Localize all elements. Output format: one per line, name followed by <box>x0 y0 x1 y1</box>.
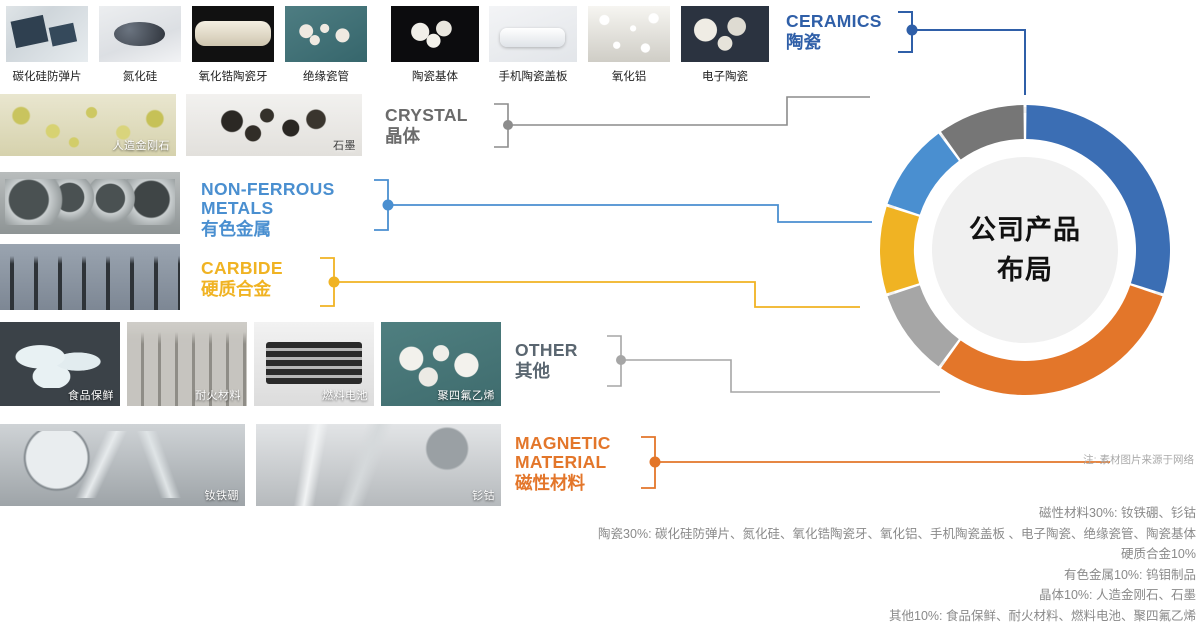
photo-electronic-ceramics <box>681 6 769 62</box>
group-label-en: OTHER <box>515 341 578 360</box>
connector-crystal <box>494 97 870 147</box>
connector-dot-crystal <box>503 120 513 130</box>
group-label-zh: 晶体 <box>385 125 468 147</box>
tile-caption: 钕铁硼 <box>205 487 240 503</box>
tile-ndfeb: 钕铁硼 <box>0 424 245 506</box>
group-label-zh: 其他 <box>515 360 578 382</box>
connector-magnetic <box>641 437 1110 488</box>
donut-segment-crystal[interactable] <box>941 105 1024 160</box>
tile-nonferrous-parts <box>0 172 180 234</box>
group-label-en-line2: MATERIAL <box>515 453 611 472</box>
tile-caption: 绝缘瓷管 <box>285 68 367 84</box>
tile-graphite: 石墨 <box>186 94 362 156</box>
donut-center-label: 公司产品 布局 <box>932 157 1118 343</box>
photo-nonferrous-parts <box>0 172 180 234</box>
group-label-other[interactable]: OTHER 其他 <box>515 341 578 382</box>
tile-caption: 燃料电池 <box>322 387 368 403</box>
photo-silicon-nitride <box>99 6 181 62</box>
connector-dot-nonferrous <box>383 200 394 211</box>
group-label-zh: 陶瓷 <box>786 31 882 53</box>
photo-ceramic-substrate <box>391 6 479 62</box>
legend-item: 磁性材料30%: 钕铁硼、钐钴 <box>16 503 1196 524</box>
donut-segment-carbide[interactable] <box>880 207 919 294</box>
tile-carbide-drills <box>0 244 180 310</box>
tile-caption: 陶瓷基体 <box>391 68 479 84</box>
tile-caption: 人造金刚石 <box>113 137 171 153</box>
photo-phone-ceramic-cover <box>489 6 577 62</box>
tile-caption: 石墨 <box>333 137 356 153</box>
tile-fuel-cell: 燃料电池 <box>254 322 374 406</box>
group-label-nonferrous[interactable]: NON-FERROUS METALS 有色金属 <box>201 180 335 240</box>
tile-ceramic-substrate <box>391 6 479 62</box>
tile-caption: 氧化锆陶瓷牙 <box>192 68 274 84</box>
tile-phone-ceramic-cover <box>489 6 577 62</box>
tile-caption: 聚四氟乙烯 <box>438 387 496 403</box>
connector-dot-other <box>616 355 626 365</box>
legend-item: 有色金属10%: 钨钼制品 <box>16 565 1196 586</box>
group-label-zh: 有色金属 <box>201 218 335 240</box>
group-label-en: CARBIDE <box>201 259 283 278</box>
legend-item: 硬质合金10% <box>16 544 1196 565</box>
group-label-carbide[interactable]: CARBIDE 硬质合金 <box>201 259 283 300</box>
tile-caption: 氧化铝 <box>588 68 670 84</box>
photo-insulating-tube <box>285 6 367 62</box>
group-label-en: CERAMICS <box>786 12 882 31</box>
tile-zirconia-teeth <box>192 6 274 62</box>
group-label-zh: 磁性材料 <box>515 472 611 494</box>
group-label-magnetic[interactable]: MAGNETIC MATERIAL 磁性材料 <box>515 434 611 494</box>
group-label-en-line1: NON-FERROUS <box>201 180 335 199</box>
tile-silicon-nitride <box>99 6 181 62</box>
center-title-line1: 公司产品 <box>969 210 1081 250</box>
connector-nonferrous <box>374 180 872 230</box>
connector-carbide <box>320 258 860 307</box>
tile-caption: 氮化硅 <box>99 68 181 84</box>
tile-insulating-tube <box>285 6 367 62</box>
group-label-en-line2: METALS <box>201 199 335 218</box>
tile-caption: 手机陶瓷盖板 <box>489 68 577 84</box>
group-label-crystal[interactable]: CRYSTAL 晶体 <box>385 106 468 147</box>
legend-list: 磁性材料30%: 钕铁硼、钐钴陶瓷30%: 碳化硅防弹片、氮化硅、氧化锆陶瓷牙、… <box>16 503 1196 626</box>
center-title-line2: 布局 <box>997 250 1053 290</box>
tile-electronic-ceramics <box>681 6 769 62</box>
tile-alumina <box>588 6 670 62</box>
tile-food-preservation: 食品保鲜 <box>0 322 120 406</box>
connector-dot-magnetic <box>650 457 661 468</box>
connector-dot-ceramics <box>907 25 918 36</box>
legend-item: 其他10%: 食品保鲜、耐火材料、燃料电池、聚四氟乙烯 <box>16 606 1196 627</box>
photo-alumina <box>588 6 670 62</box>
tile-caption: 耐火材料 <box>195 387 241 403</box>
tile-refractory: 耐火材料 <box>127 322 247 406</box>
tile-sic-armor <box>6 6 88 62</box>
photo-carbide-drills <box>0 244 180 310</box>
connector-dot-carbide <box>329 277 340 288</box>
group-label-en-line1: MAGNETIC <box>515 434 611 453</box>
photo-sic-armor <box>6 6 88 62</box>
tile-caption: 食品保鲜 <box>68 387 114 403</box>
tile-smco: 钐钴 <box>256 424 501 506</box>
tile-caption: 电子陶瓷 <box>681 68 769 84</box>
source-note: 注: 素材图片来源于网络 <box>1083 452 1194 467</box>
photo-zirconia-teeth <box>192 6 274 62</box>
group-label-zh: 硬质合金 <box>201 278 283 300</box>
legend-item: 晶体10%: 人造金刚石、石墨 <box>16 585 1196 606</box>
legend-item: 陶瓷30%: 碳化硅防弹片、氮化硅、氧化锆陶瓷牙、氧化铝、手机陶瓷盖板 、电子陶… <box>16 524 1196 545</box>
photo-smco <box>256 424 501 506</box>
group-label-ceramics[interactable]: CERAMICS 陶瓷 <box>786 12 882 53</box>
tile-synthetic-diamond: 人造金刚石 <box>0 94 176 156</box>
tile-ptfe: 聚四氟乙烯 <box>381 322 501 406</box>
product-donut-chart: 公司产品 布局 <box>845 70 1204 430</box>
tile-caption: 碳化硅防弹片 <box>6 68 88 84</box>
tile-caption: 钐钴 <box>472 487 495 503</box>
group-label-en: CRYSTAL <box>385 106 468 125</box>
